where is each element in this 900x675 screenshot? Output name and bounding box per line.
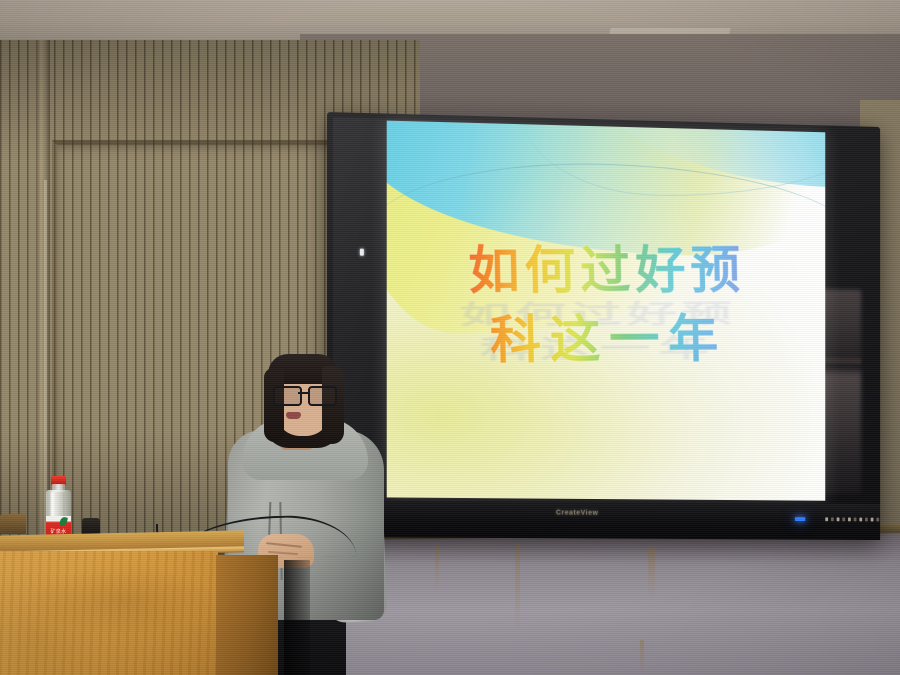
eyeglasses-lens-left bbox=[273, 386, 302, 406]
lecture-hall-photo: 如何过好预 科这一年 如何过好预 科这一年 CreateView bbox=[0, 0, 900, 675]
eyeglasses-lens-right bbox=[308, 386, 337, 406]
podium-side-face bbox=[216, 555, 278, 675]
display-control-buttons[interactable] bbox=[825, 517, 882, 522]
wall-stain bbox=[515, 544, 520, 634]
wall-stain bbox=[648, 548, 655, 600]
eyeglasses-bridge bbox=[298, 392, 308, 394]
wall-stain bbox=[640, 640, 644, 674]
display-control-key[interactable] bbox=[854, 517, 857, 521]
presenter-mouth bbox=[286, 412, 301, 419]
slide-title-line-1: 如何过好预 bbox=[391, 238, 819, 308]
display-bezel: 如何过好预 科这一年 如何过好预 科这一年 CreateView bbox=[327, 112, 880, 540]
display-brand-label: CreateView bbox=[556, 510, 598, 517]
display-control-key[interactable] bbox=[859, 518, 862, 522]
display-control-key[interactable] bbox=[825, 517, 828, 521]
display-control-key[interactable] bbox=[865, 518, 868, 522]
display-control-key[interactable] bbox=[871, 518, 874, 522]
display-screen[interactable]: 如何过好预 科这一年 如何过好预 科这一年 bbox=[387, 121, 826, 501]
slide-title-line-2: 科这一年 bbox=[393, 306, 821, 377]
podium bbox=[0, 533, 284, 675]
cursor-pointer-icon[interactable] bbox=[360, 249, 364, 256]
display-control-key[interactable] bbox=[848, 517, 851, 521]
podium-shelf-object bbox=[0, 514, 26, 534]
display-control-key[interactable] bbox=[831, 517, 834, 521]
eyeglasses-icon bbox=[273, 386, 335, 402]
presenter-head bbox=[264, 352, 342, 448]
display-control-key[interactable] bbox=[876, 518, 879, 522]
lower-wall bbox=[330, 532, 900, 675]
display-control-key[interactable] bbox=[842, 517, 845, 521]
display-control-key[interactable] bbox=[837, 517, 840, 521]
podium-shadow bbox=[284, 560, 310, 675]
slide-title: 如何过好预 科这一年 bbox=[387, 238, 826, 377]
water-bottle[interactable]: 矿泉水 bbox=[42, 476, 76, 538]
power-led-indicator bbox=[795, 517, 805, 521]
wall-stain bbox=[435, 546, 439, 592]
bottle-highlight bbox=[51, 492, 54, 518]
podium-wood-grain bbox=[0, 551, 218, 675]
interactive-flat-panel-display[interactable]: 如何过好预 科这一年 如何过好预 科这一年 CreateView bbox=[327, 112, 900, 542]
